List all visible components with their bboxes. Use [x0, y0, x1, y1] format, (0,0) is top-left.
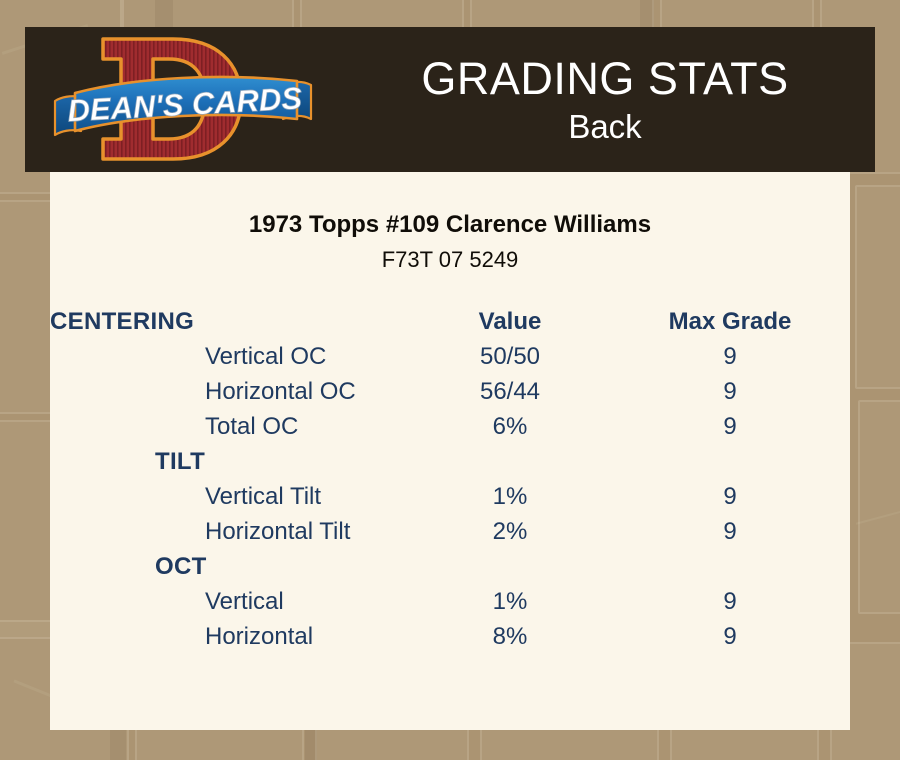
row-value: 50/50 [410, 339, 610, 374]
row-label: Vertical [50, 584, 410, 619]
page-subtitle: Back [568, 107, 641, 147]
table-row: Horizontal OC 56/44 9 [50, 374, 850, 409]
row-value: 2% [410, 514, 610, 549]
card-title: 1973 Topps #109 Clarence Williams [50, 210, 850, 240]
section-title: OCT [50, 549, 410, 584]
row-max-grade: 9 [610, 584, 850, 619]
row-label: Horizontal [50, 619, 410, 654]
row-value: 1% [410, 584, 610, 619]
section-spacer [410, 444, 610, 479]
content-panel: 1973 Topps #109 Clarence Williams F73T 0… [50, 172, 850, 730]
table-row: Horizontal 8% 9 [50, 619, 850, 654]
row-value: 6% [410, 409, 610, 444]
table-header-row: CENTERING Value Max Grade [50, 304, 850, 339]
table-body: Vertical OC 50/50 9 Horizontal OC 56/44 … [50, 339, 850, 654]
header-titles: GRADING STATS Back [335, 27, 875, 172]
row-max-grade: 9 [610, 374, 850, 409]
header-bar: DEAN'S CARDS GRADING STATS Back [25, 27, 875, 172]
card-id: F73T 07 5249 [50, 246, 850, 274]
row-max-grade: 9 [610, 339, 850, 374]
table-row: Vertical Tilt 1% 9 [50, 479, 850, 514]
column-header-max-grade: Max Grade [610, 304, 850, 339]
row-label: Vertical Tilt [50, 479, 410, 514]
page-title: GRADING STATS [421, 53, 788, 105]
table-row: Horizontal Tilt 2% 9 [50, 514, 850, 549]
grading-stats-table: CENTERING Value Max Grade Vertical OC 50… [50, 304, 850, 654]
section-header-oct: OCT [50, 549, 850, 584]
row-value: 56/44 [410, 374, 610, 409]
column-header-value: Value [410, 304, 610, 339]
table-row: Vertical OC 50/50 9 [50, 339, 850, 374]
section-header-tilt: TILT [50, 444, 850, 479]
row-max-grade: 9 [610, 479, 850, 514]
deans-cards-logo[interactable]: DEAN'S CARDS [45, 27, 325, 172]
table-row: Total OC 6% 9 [50, 409, 850, 444]
column-header-centering: CENTERING [50, 304, 410, 339]
row-label: Horizontal OC [50, 374, 410, 409]
row-max-grade: 9 [610, 409, 850, 444]
section-spacer [610, 549, 850, 584]
section-spacer [410, 549, 610, 584]
row-value: 8% [410, 619, 610, 654]
section-title: TILT [50, 444, 410, 479]
row-label: Total OC [50, 409, 410, 444]
row-value: 1% [410, 479, 610, 514]
section-spacer [610, 444, 850, 479]
row-max-grade: 9 [610, 514, 850, 549]
grading-stats-page: DEAN'S CARDS GRADING STATS Back 1973 Top… [0, 0, 900, 760]
row-label: Vertical OC [50, 339, 410, 374]
table-row: Vertical 1% 9 [50, 584, 850, 619]
row-label: Horizontal Tilt [50, 514, 410, 549]
row-max-grade: 9 [610, 619, 850, 654]
